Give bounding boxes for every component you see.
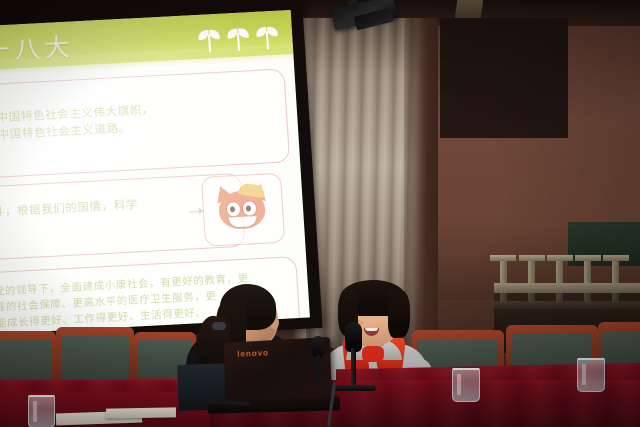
microphone-base (332, 385, 376, 391)
ceiling-light-fixture (455, 0, 484, 18)
microphone-neck (351, 348, 356, 388)
microphone-stand-secondary (316, 355, 320, 383)
hair-tie (212, 322, 226, 330)
dark-wall-panel (440, 18, 568, 138)
scarf-knot (362, 346, 384, 362)
photo-scene: 十八大 中国特色社会主义伟大旗帜， 中国特色社会主义道路。 力奋斗，根据我们的国… (0, 0, 640, 427)
laptop-brand-label: lenovo (237, 348, 269, 358)
chair (56, 327, 134, 383)
sprout-icon (255, 23, 279, 50)
sprout-icon (226, 24, 250, 51)
paper-document (106, 407, 176, 418)
sprout-icon-group (197, 23, 279, 53)
water-cup[interactable] (577, 358, 605, 392)
water-cup[interactable] (28, 395, 55, 427)
water-cup[interactable] (452, 368, 480, 402)
cartoon-cat-icon (211, 179, 272, 236)
chair (0, 331, 56, 383)
slide-title: 十八大 (0, 27, 76, 68)
sprout-icon (197, 26, 221, 53)
